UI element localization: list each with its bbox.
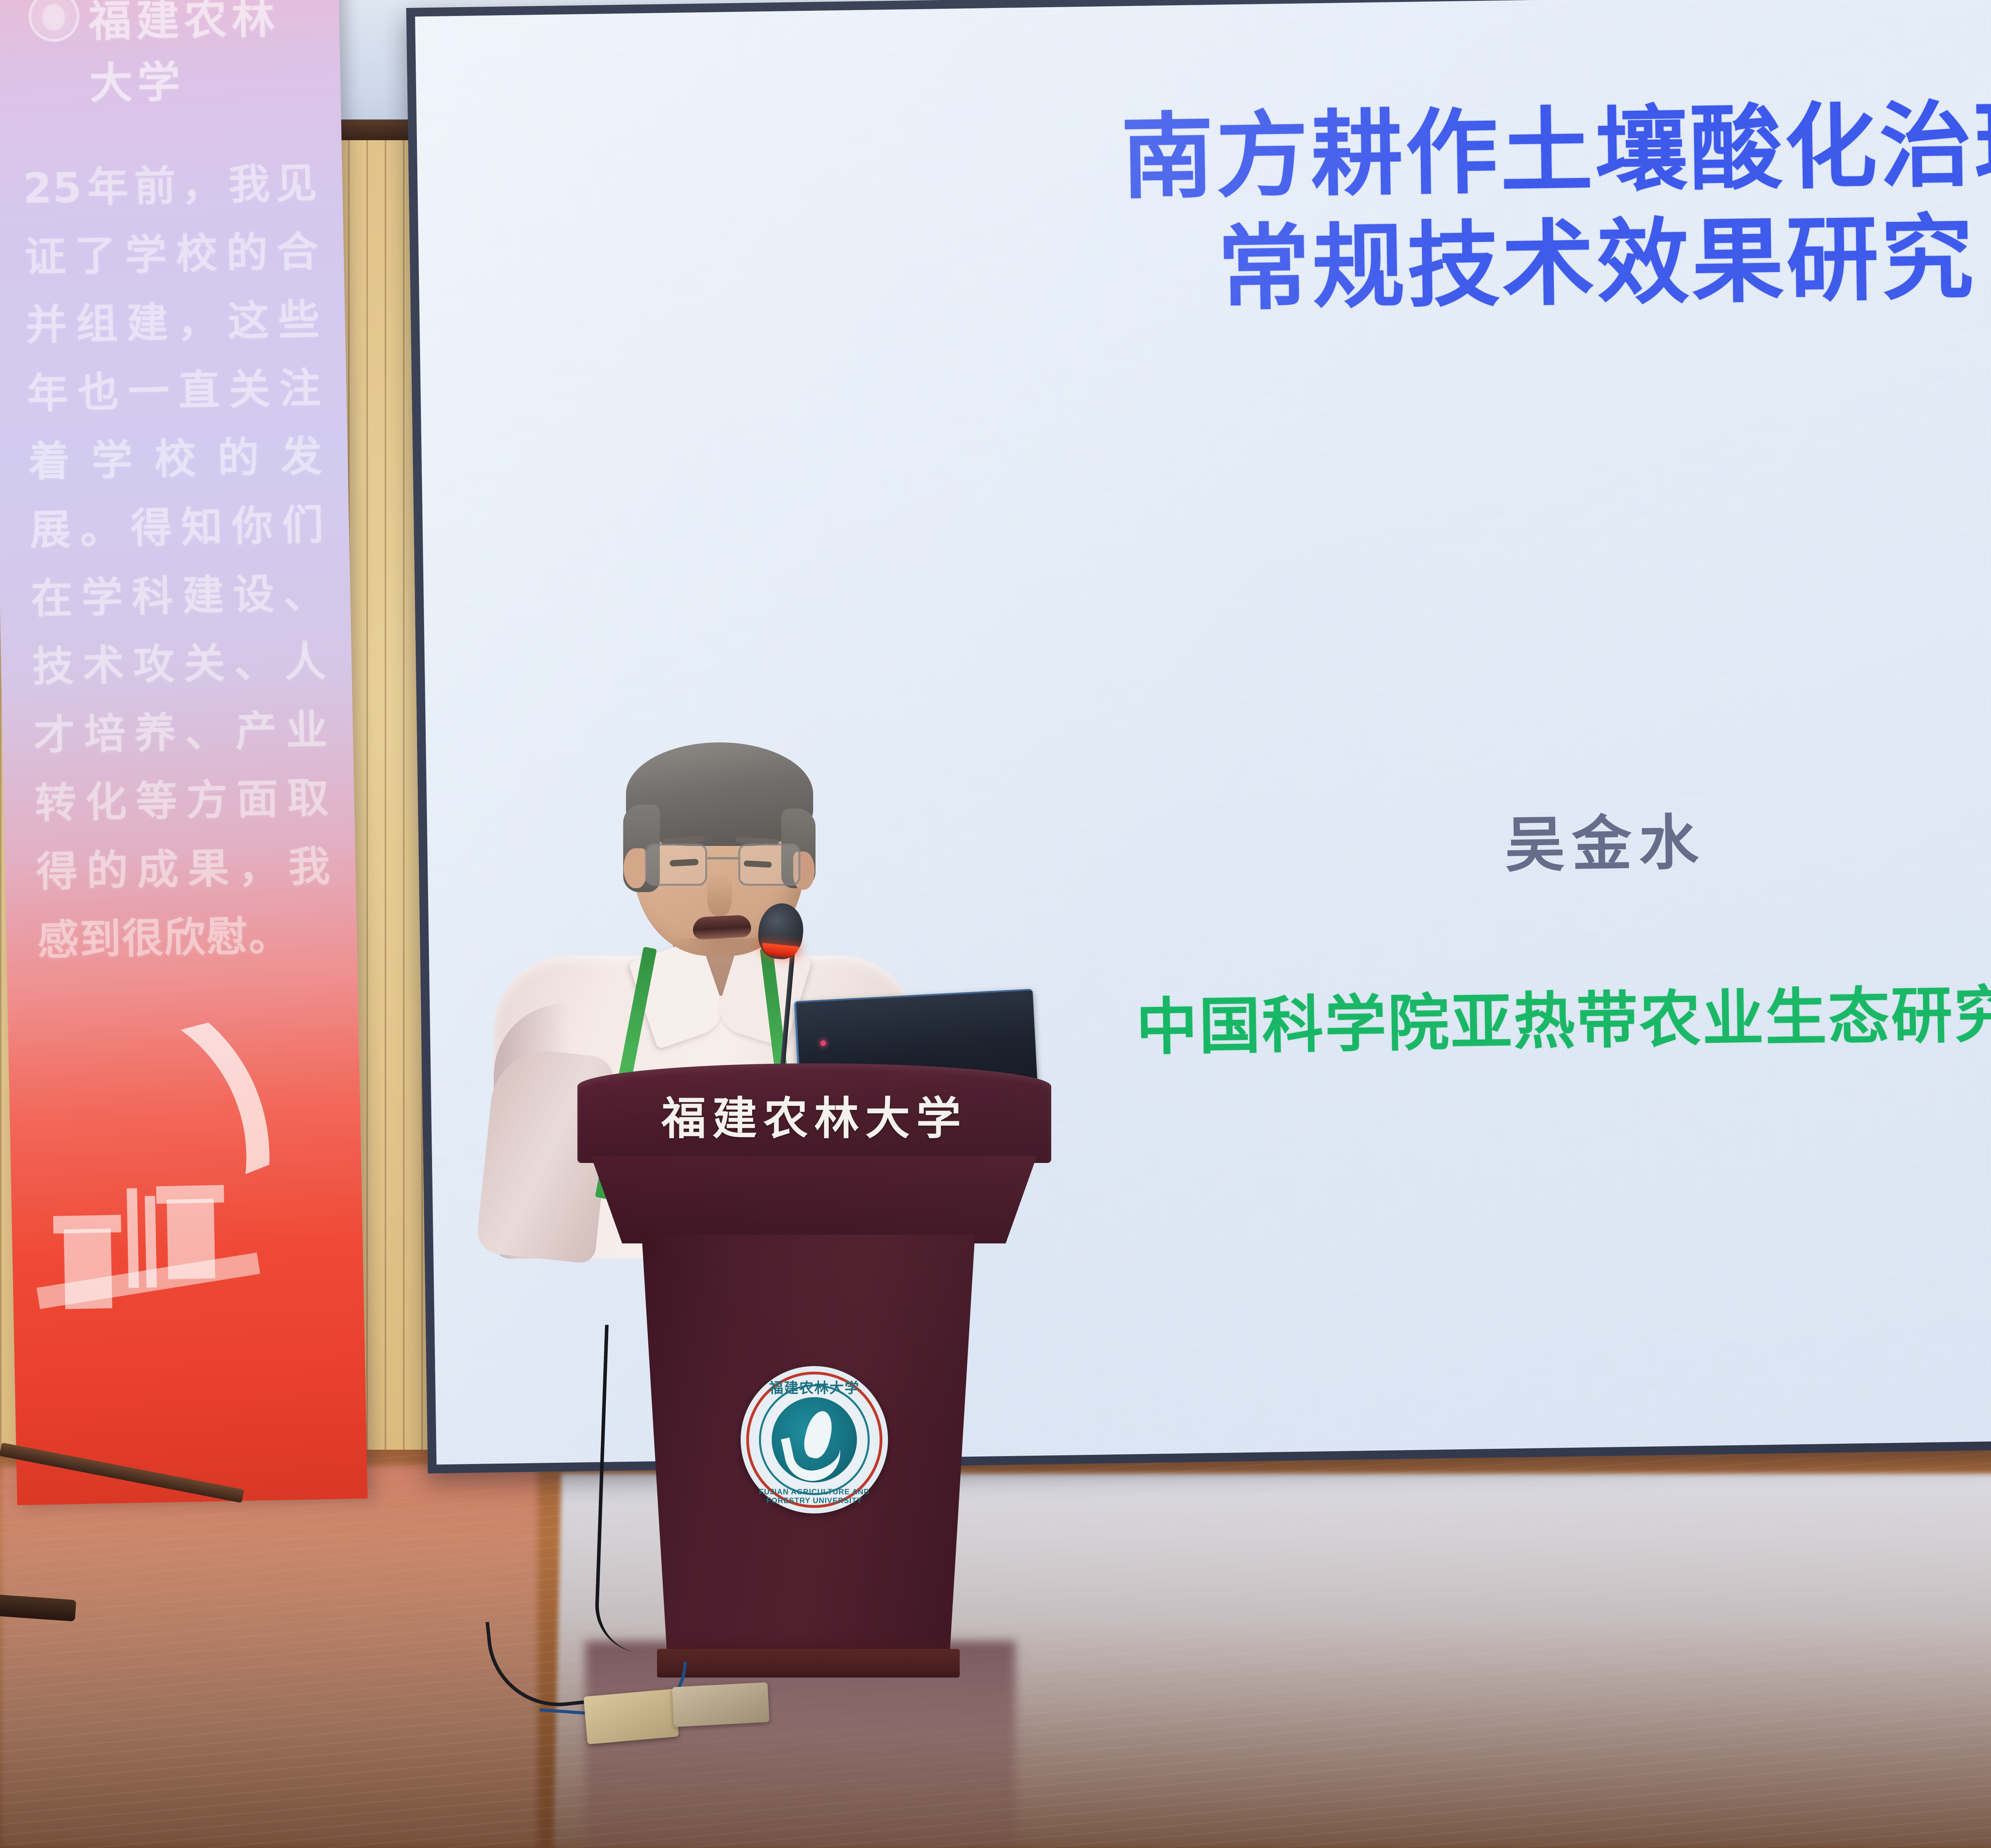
glasses-lens-right [738,844,800,886]
wall-span-1 [37,1253,260,1309]
speaker-mouth [692,914,752,940]
seal-english-text: FUJIAN AGRICULTURE AND FORESTRY UNIVERSI… [741,1488,888,1505]
speaker-chin-shadow [673,938,773,959]
wall-pole-2 [145,1196,156,1288]
slide-title: 南方耕作土壤酸化治理 常规技术效果研究 [417,77,1991,338]
wall-pole-1 [127,1188,139,1288]
podium-mid-panel [591,1156,1037,1243]
seal-swirl-icon [781,1428,845,1482]
wall-tower-2 [167,1199,215,1279]
glasses-bridge [707,857,739,859]
podium-top-panel: 福建农林大学 [577,1063,1051,1163]
power-cable-1 [594,1325,696,1654]
university-seal-icon: 福建农林大学 FUJIAN AGRICULTURE AND FORESTRY U… [741,1366,888,1513]
banner-arc-graphic [0,958,289,1357]
speaker-ear-left [624,848,647,888]
seal-chinese-text: 福建农林大学 [741,1376,888,1397]
university-emblem-icon [28,0,80,42]
seal-center-disc [772,1397,857,1482]
banner-organization-name: 福建农林大学 [88,0,313,111]
wall-tower-1 [64,1229,112,1309]
podium-organization-text: 福建农林大学 [577,1083,1051,1147]
left-standing-banner: 福建农林大学 25年前，我见证了学校的合并组建，这些年也一直关注着学校的发展。得… [0,0,368,1505]
great-wall-graphic-icon [0,1124,368,1410]
floor-cable-box-1 [583,1689,679,1744]
floor-reflection-banner [0,1466,538,1848]
slide-title-line1: 南方耕作土壤酸化治理 [417,77,1991,225]
floor-cable-box-2 [672,1682,770,1727]
auditorium-scene: 南方耕作土壤酸化治理 常规技术效果研究 吴金水 中国科学院亚热带农业生态研究所 … [0,0,1991,1848]
glasses-lens-left [645,844,707,886]
banner-message-text: 25年前，我见证了学校的合并组建，这些年也一直关注着学校的发展。得知你们在学科建… [22,149,332,975]
speaker-nose [707,873,732,916]
laptop-power-led-icon [820,1040,826,1046]
